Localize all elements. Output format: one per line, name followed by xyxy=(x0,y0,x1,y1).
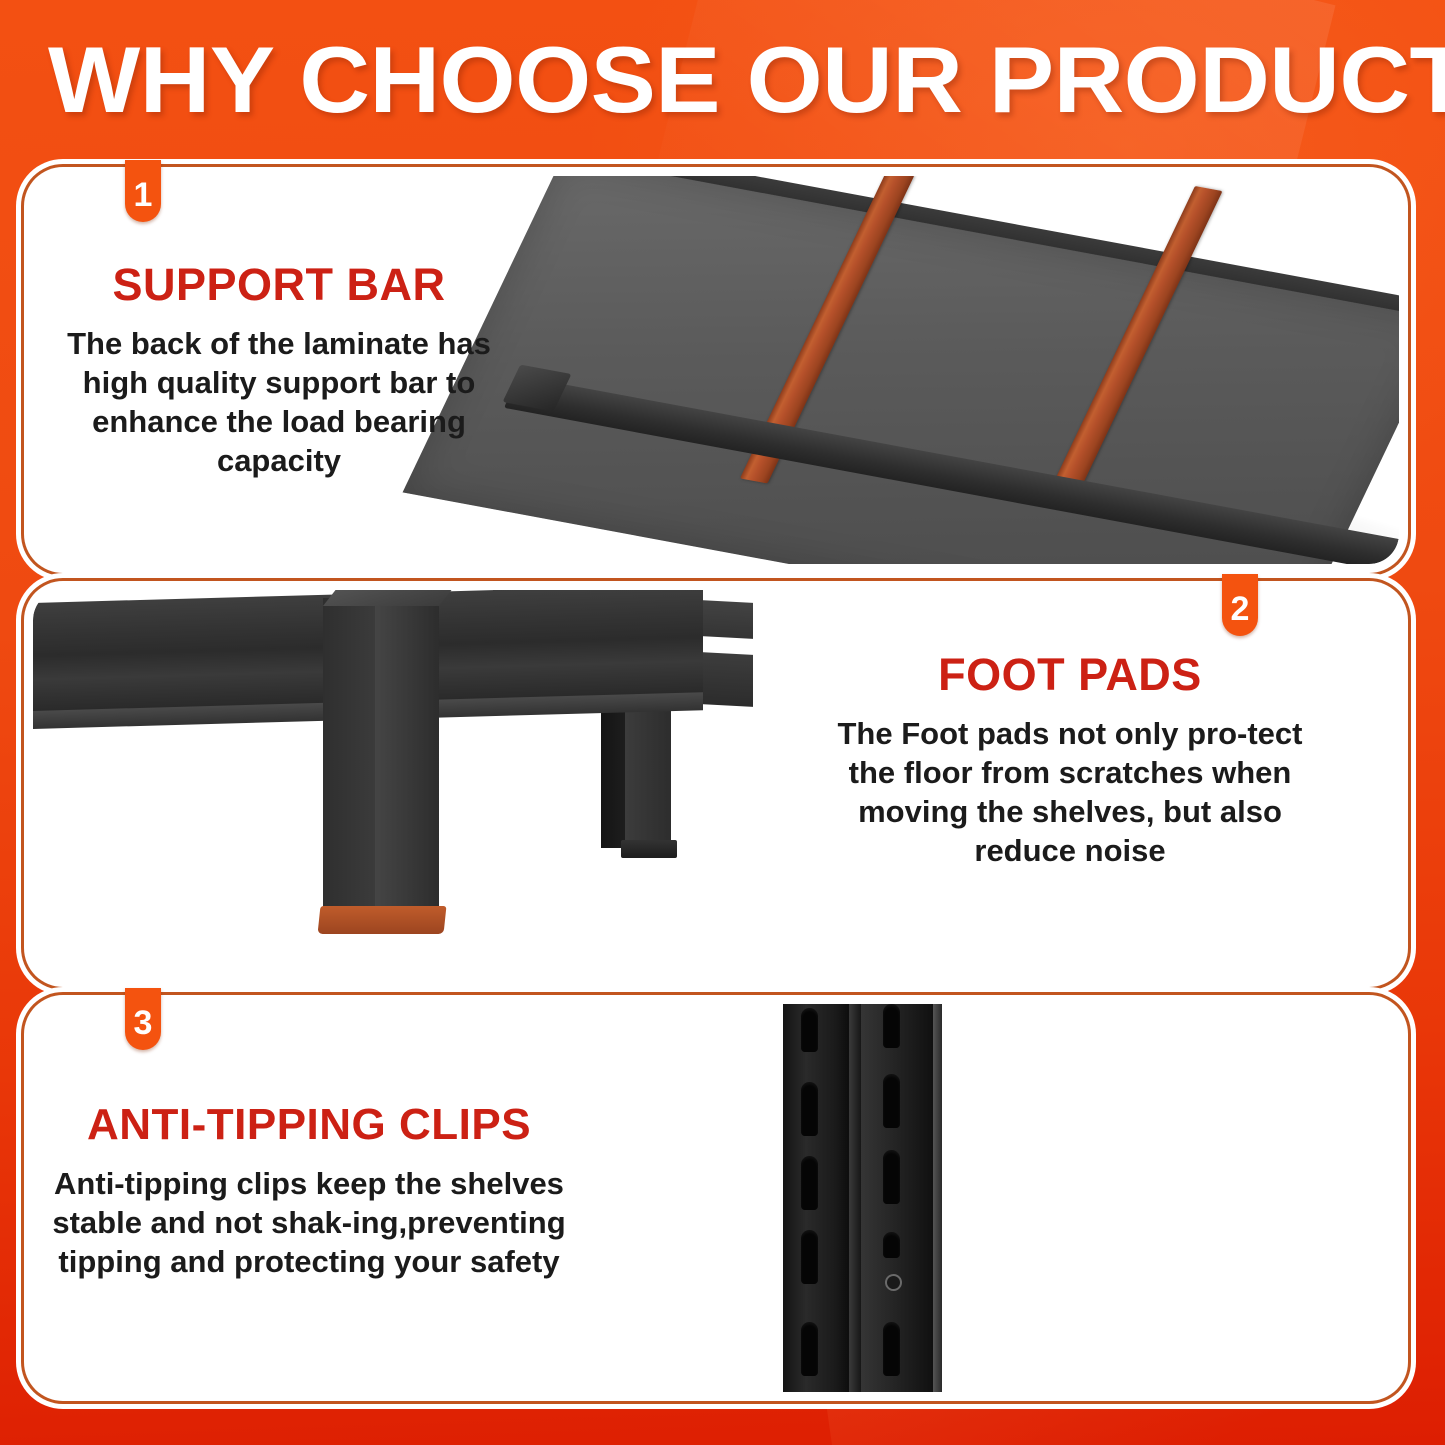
panel-3-heading: ANTI-TIPPING CLIPS xyxy=(44,1100,574,1150)
post-keyhole-slot xyxy=(883,1074,900,1128)
panel-2-heading: FOOT PADS xyxy=(810,650,1330,700)
front-leg-right-face xyxy=(375,590,439,912)
front-leg xyxy=(323,590,439,920)
panel-2-body: The Foot pads not only pro-tect the floo… xyxy=(810,714,1330,870)
panel-2-text: FOOT PADS The Foot pads not only pro-tec… xyxy=(810,650,1330,870)
step-badge-1: 1 xyxy=(125,160,161,222)
post-rivet-icon xyxy=(885,1274,902,1291)
post-keyhole-slot xyxy=(801,1230,818,1284)
panel-3-body: Anti-tipping clips keep the shelves stab… xyxy=(44,1164,574,1281)
front-leg-top-cap xyxy=(323,590,456,606)
shelf-leg-illustration xyxy=(33,590,743,978)
post-keyhole-slot xyxy=(801,1156,818,1210)
post-keyhole-slot xyxy=(883,1150,900,1204)
post-keyhole-slot xyxy=(801,1008,818,1052)
panel-1-heading: SUPPORT BAR xyxy=(44,260,514,310)
step-badge-2: 2 xyxy=(1222,574,1258,636)
post-corner xyxy=(849,1004,861,1392)
post-keyhole-slot xyxy=(883,1232,900,1258)
post-keyhole-slot xyxy=(883,1004,900,1048)
panel-1-body: The back of the laminate has high qualit… xyxy=(44,324,514,480)
panel-3-text: ANTI-TIPPING CLIPS Anti-tipping clips ke… xyxy=(44,1100,574,1281)
step-badge-3: 3 xyxy=(125,988,161,1050)
infographic-canvas: WHY CHOOSE OUR PRODUCT 1 SUPPORT BAR The… xyxy=(0,0,1445,1445)
post-keyhole-slot xyxy=(801,1322,818,1376)
slotted-post-illustration xyxy=(773,1004,953,1392)
back-leg-foot xyxy=(621,840,677,858)
post-keyhole-slot xyxy=(883,1322,900,1376)
shelf-illustration xyxy=(503,176,1399,564)
foot-pad xyxy=(318,906,447,934)
post-keyhole-slot xyxy=(801,1082,818,1136)
post-right-edge xyxy=(933,1004,942,1392)
panel-1-text: SUPPORT BAR The back of the laminate has… xyxy=(44,260,514,480)
page-title: WHY CHOOSE OUR PRODUCT xyxy=(48,28,1445,138)
front-leg-left-face xyxy=(323,598,375,916)
